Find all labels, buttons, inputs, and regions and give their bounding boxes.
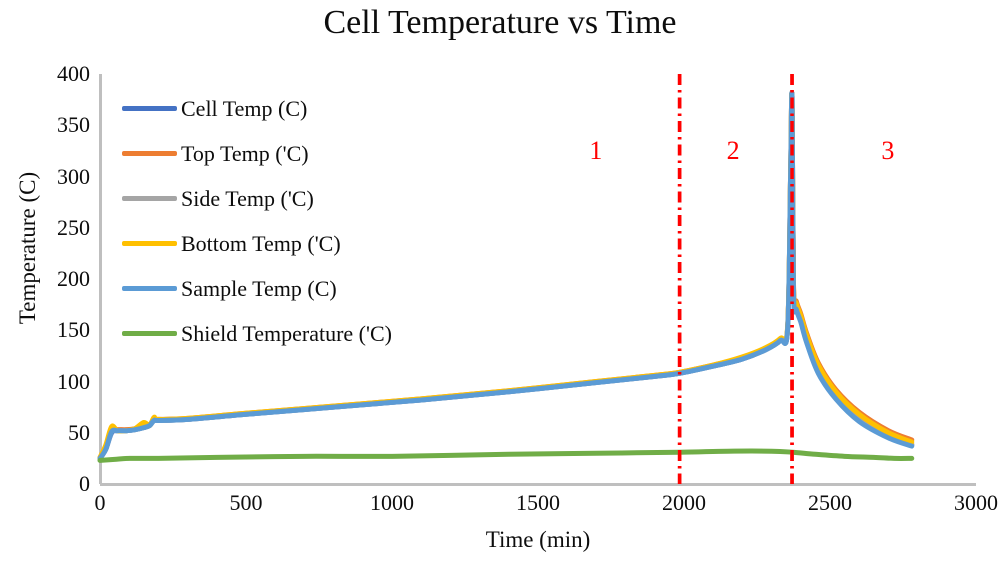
series-line [100,451,912,460]
legend-item[interactable]: Sample Temp (C) [122,266,452,311]
legend-item-label: Cell Temp (C) [181,97,307,121]
legend-color-swatch [122,196,177,201]
legend-item-label: Side Temp ('C) [181,187,314,211]
legend-item-label: Shield Temperature ('C) [181,322,392,346]
region-label-1: 1 [589,138,602,164]
legend-item[interactable]: Bottom Temp ('C) [122,221,452,266]
legend-item[interactable]: Cell Temp (C) [122,86,452,131]
legend-item-label: Sample Temp (C) [181,277,337,301]
legend-item[interactable]: Top Temp ('C) [122,131,452,176]
legend-item[interactable]: Side Temp ('C) [122,176,452,221]
chart-page: Cell Temperature vs Time Temperature (C)… [0,0,1000,567]
region-label-2: 2 [727,138,740,164]
legend-color-swatch [122,106,177,111]
legend-color-swatch [122,241,177,246]
legend-color-swatch [122,331,177,336]
legend-color-swatch [122,151,177,156]
region-label-3: 3 [881,138,894,164]
chart-legend: Cell Temp (C)Top Temp ('C)Side Temp ('C)… [122,86,452,356]
legend-color-swatch [122,286,177,291]
legend-item-label: Top Temp ('C) [181,142,309,166]
legend-item-label: Bottom Temp ('C) [181,232,341,256]
legend-item[interactable]: Shield Temperature ('C) [122,311,452,356]
